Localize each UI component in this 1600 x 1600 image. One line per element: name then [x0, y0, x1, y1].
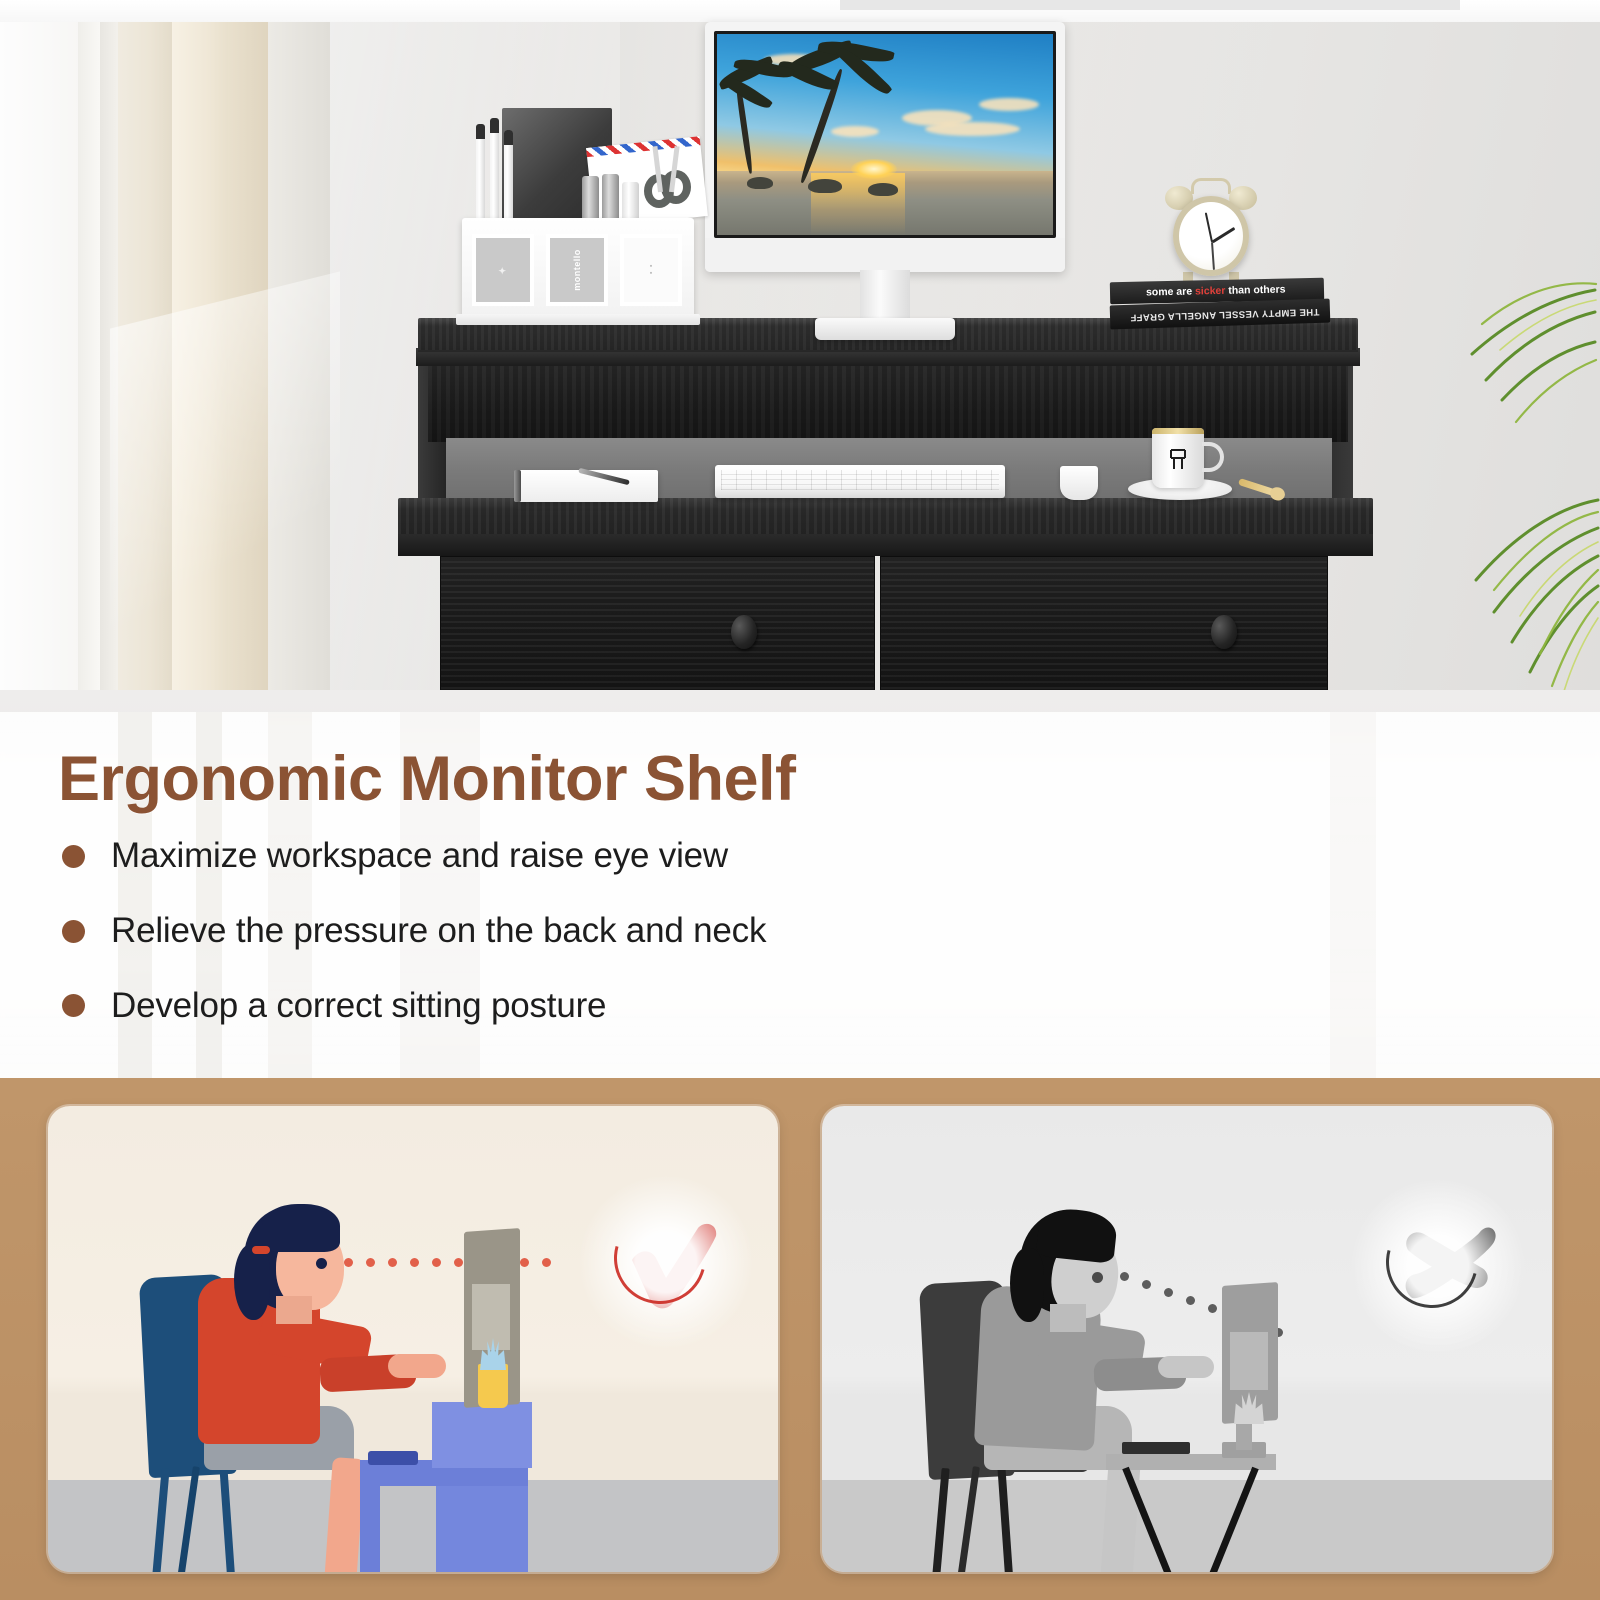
- bullet-dot-icon: [62, 920, 85, 943]
- hand: [388, 1354, 446, 1378]
- desk-leg: [360, 1460, 380, 1572]
- bullet-dot-icon: [62, 845, 85, 868]
- coffee-cup: [1152, 428, 1204, 488]
- monitor-stand-neck: [860, 270, 910, 324]
- monitor-screen: [714, 31, 1056, 238]
- shelf-front-edge: [416, 348, 1360, 366]
- keyboard-illustration: [1122, 1442, 1190, 1454]
- ceiling-strip-shadow: [840, 0, 1460, 10]
- page-title: Ergonomic Monitor Shelf: [58, 748, 796, 811]
- clock-handle: [1191, 178, 1231, 194]
- hair-tie: [252, 1246, 270, 1254]
- monitor-chin: [705, 238, 1065, 272]
- photo-frame-2: montello: [546, 234, 608, 306]
- list-item: Relieve the pressure on the back and nec…: [62, 913, 1162, 950]
- desk-drawer-right[interactable]: [880, 556, 1328, 696]
- cross-badge: [1378, 1206, 1498, 1326]
- notepad: [518, 470, 658, 502]
- keyboard: [715, 465, 1005, 498]
- monitor-display-area: [472, 1284, 510, 1350]
- monitor-riser-shelf: [432, 1402, 532, 1468]
- desk-top-surface: [398, 498, 1373, 538]
- list-item: Develop a correct sitting posture: [62, 988, 1162, 1025]
- bullet-dot-icon: [62, 994, 85, 1017]
- bullet-text: Maximize workspace and raise eye view: [111, 838, 728, 875]
- photo-frame-1: ✦: [472, 234, 534, 306]
- plant-pot: [478, 1364, 508, 1408]
- book-stack: some are sicker than others THE EMPTY VE…: [1110, 268, 1330, 332]
- bullet-text: Relieve the pressure on the back and nec…: [111, 913, 766, 950]
- neck: [276, 1296, 312, 1324]
- pen: [578, 468, 630, 485]
- drawer-knob-icon[interactable]: [1211, 615, 1237, 649]
- photo-frame-3: ▪▪: [620, 234, 682, 306]
- keyboard-illustration: [368, 1451, 418, 1465]
- neck: [1050, 1304, 1086, 1332]
- eye: [316, 1258, 327, 1269]
- list-item: Maximize workspace and raise eye view: [62, 838, 1162, 875]
- desk-drawer-left[interactable]: [440, 556, 875, 696]
- bullet-text: Develop a correct sitting posture: [111, 988, 606, 1025]
- cup-logo-icon: [1168, 446, 1188, 472]
- feature-text-band: Ergonomic Monitor Shelf Maximize workspa…: [0, 712, 1600, 1078]
- book-title-top: some are sicker than others: [1146, 284, 1286, 299]
- drawer-knob-icon[interactable]: [731, 615, 757, 649]
- alarm-clock: [1165, 180, 1257, 280]
- clock-face: [1173, 196, 1249, 276]
- hair-fringe: [262, 1204, 340, 1252]
- monitor-bezel: [705, 22, 1065, 272]
- monitor-stand-base: [815, 318, 955, 340]
- posture-comparison-section: [0, 1078, 1600, 1600]
- hand: [1158, 1356, 1214, 1378]
- organizer-base: [456, 314, 700, 325]
- correct-posture-illustration: [48, 1106, 778, 1572]
- incorrect-posture-illustration: [822, 1106, 1552, 1572]
- small-white-cup: [1060, 466, 1098, 500]
- illustration-floor: [822, 1480, 1552, 1572]
- book-title-bottom: THE EMPTY VESSEL ANGELLA GRAFF: [1130, 305, 1320, 322]
- potted-palm-plant: [1390, 250, 1600, 720]
- desk-organizer: ✦ montello ▪▪: [462, 108, 694, 332]
- organizer-body: ✦ montello ▪▪: [462, 218, 694, 318]
- feature-bullet-list: Maximize workspace and raise eye view Re…: [62, 838, 1162, 1024]
- desk-apron: [398, 534, 1373, 556]
- product-infographic: ✦ montello ▪▪: [0, 0, 1600, 1600]
- desktop-monitor: [705, 22, 1065, 342]
- eye: [1092, 1272, 1103, 1283]
- ponytail: [234, 1244, 270, 1320]
- wallpaper-sun: [851, 159, 897, 179]
- ponytail: [1010, 1248, 1044, 1322]
- hair-fringe: [1036, 1206, 1119, 1264]
- monitor-display-area: [1230, 1332, 1268, 1390]
- shelf-back-panel: [428, 364, 1348, 442]
- check-badge: [606, 1202, 726, 1322]
